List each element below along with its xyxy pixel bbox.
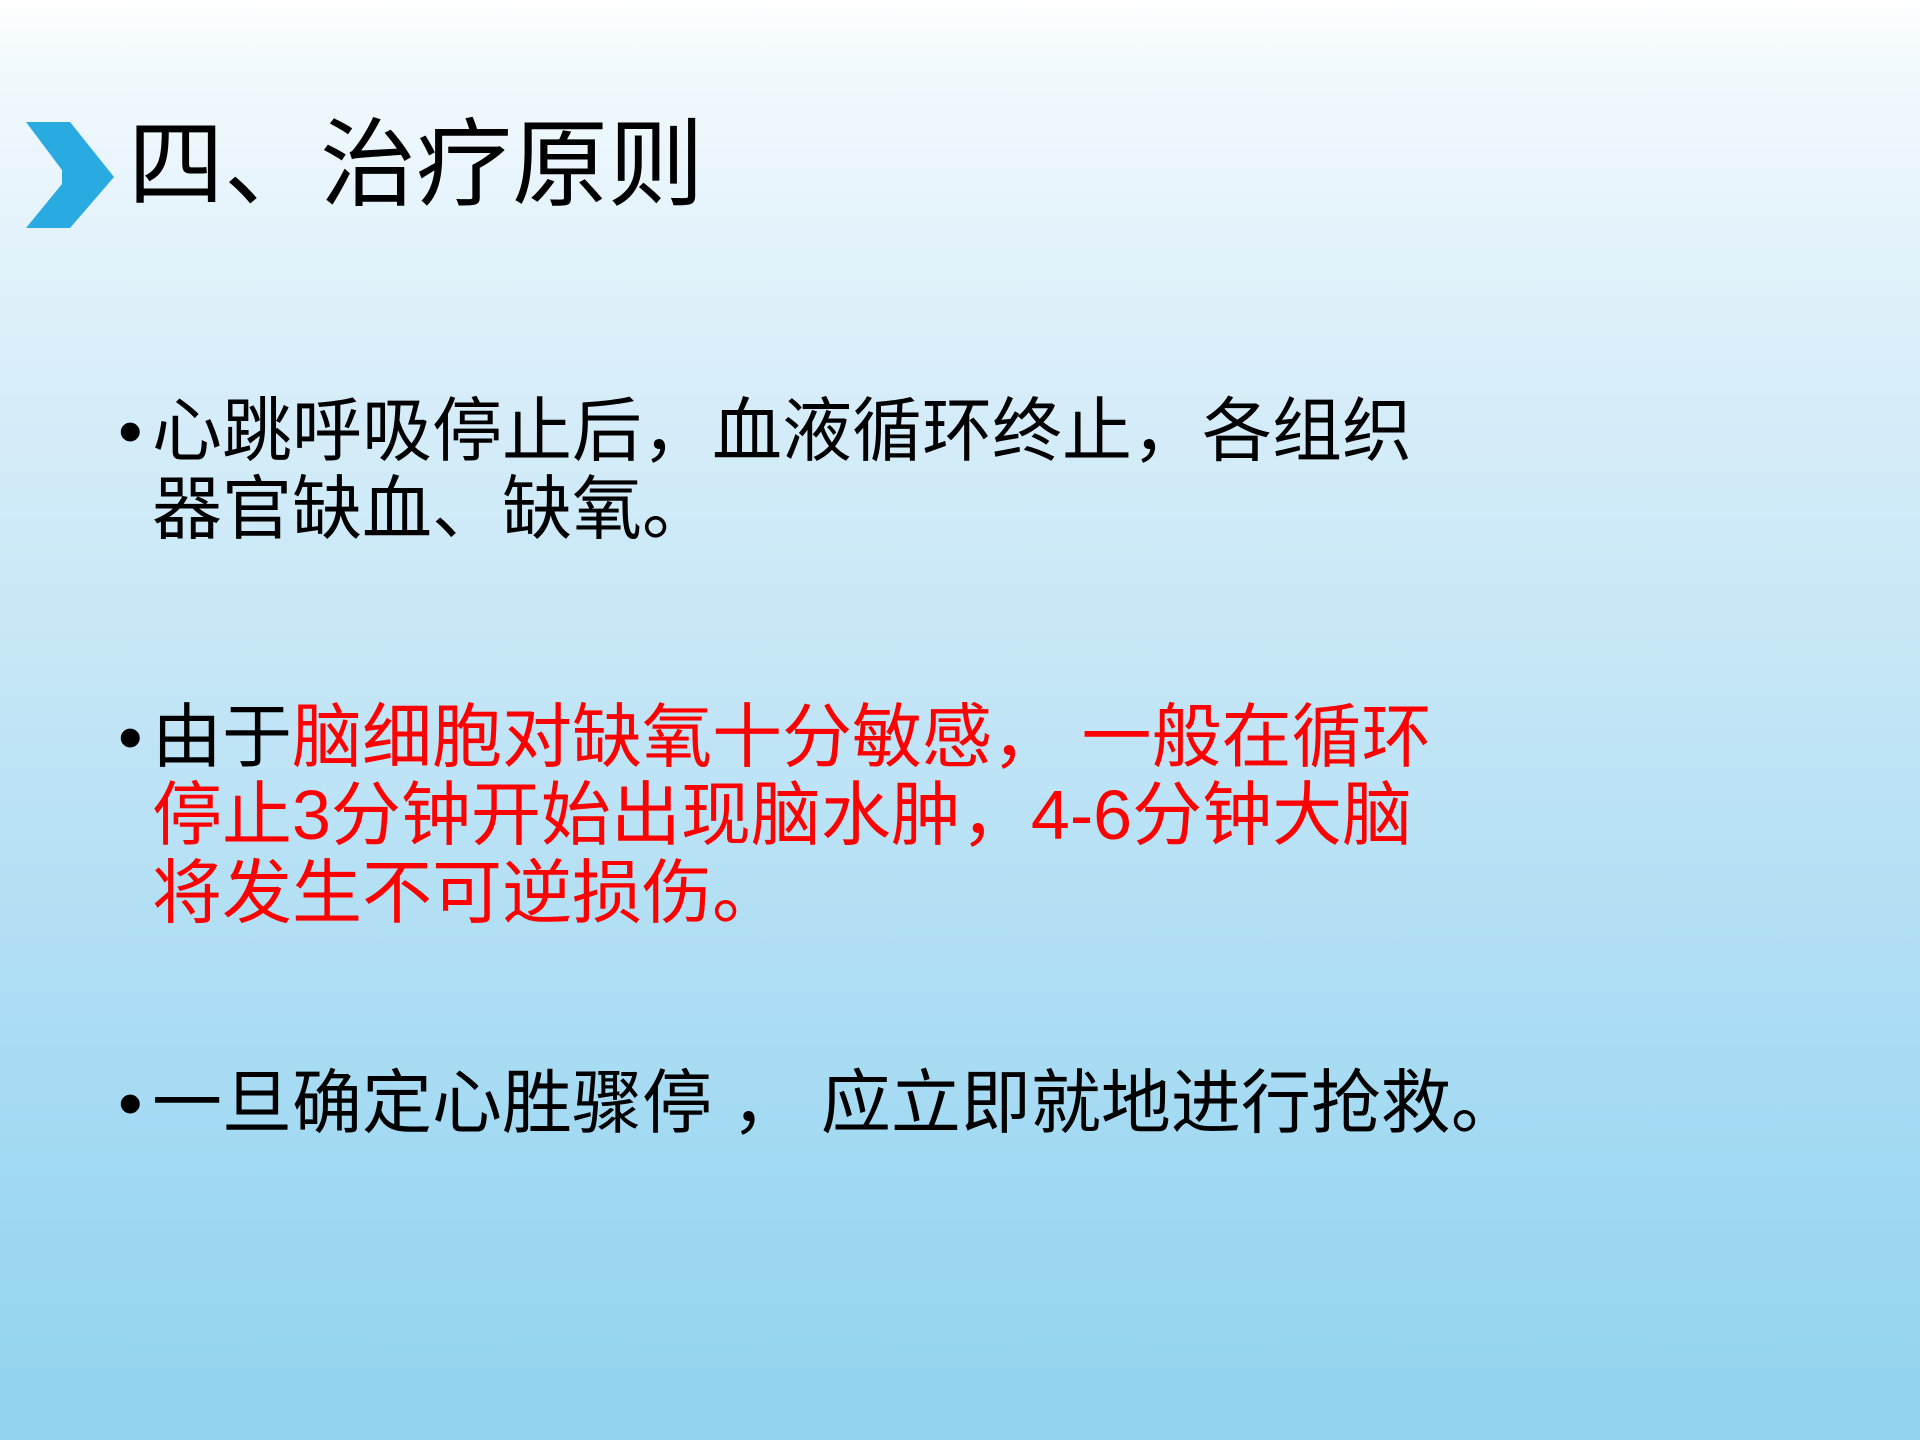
chevron-right-icon: [20, 114, 116, 232]
bullet-2-prefix: 由于: [152, 698, 292, 776]
bullet-marker: •: [118, 698, 152, 776]
bullet-1-line-1: 心跳呼吸停止后，血液循环终止，各组织: [152, 392, 1818, 470]
bullet-marker: •: [118, 392, 152, 470]
bullet-item-3: • 一旦确定心胜骤停 ， 应立即就地进行抢救。: [118, 1064, 1818, 1142]
slide-canvas: 四、治疗原则 • 心跳呼吸停止后，血液循环终止，各组织 器官缺血、缺氧。 • 由…: [0, 0, 1920, 1440]
bullet-2-line-3: 将发生不可逆损伤。: [152, 854, 1818, 932]
bullet-item-2: • 由于脑细胞对缺氧十分敏感， 一般在循环 停止3分钟开始出现脑水肿，4-6分钟…: [118, 698, 1818, 932]
bullet-2-line-2: 停止3分钟开始出现脑水肿，4-6分钟大脑: [152, 776, 1818, 854]
spacer-1: [118, 548, 1818, 698]
spacer-2: [118, 932, 1818, 1064]
bullet-marker: •: [118, 1064, 152, 1142]
slide-body: • 心跳呼吸停止后，血液循环终止，各组织 器官缺血、缺氧。 • 由于脑细胞对缺氧…: [118, 392, 1818, 1142]
bullet-2-highlight-1: 脑细胞对缺氧十分敏感， 一般在循环: [292, 698, 1431, 776]
bullet-2-line-1: 由于脑细胞对缺氧十分敏感， 一般在循环: [152, 698, 1818, 776]
page-title: 四、治疗原则: [128, 108, 704, 224]
bullet-text-3: 一旦确定心胜骤停 ， 应立即就地进行抢救。: [152, 1064, 1818, 1142]
slide-title-row: 四、治疗原则: [0, 108, 1920, 248]
bullet-text-1: 心跳呼吸停止后，血液循环终止，各组织 器官缺血、缺氧。: [152, 392, 1818, 548]
bullet-item-1: • 心跳呼吸停止后，血液循环终止，各组织 器官缺血、缺氧。: [118, 392, 1818, 548]
bullet-3-line-1: 一旦确定心胜骤停 ， 应立即就地进行抢救。: [152, 1064, 1818, 1142]
bullet-1-line-2: 器官缺血、缺氧。: [152, 470, 1818, 548]
bullet-text-2: 由于脑细胞对缺氧十分敏感， 一般在循环 停止3分钟开始出现脑水肿，4-6分钟大脑…: [152, 698, 1818, 932]
